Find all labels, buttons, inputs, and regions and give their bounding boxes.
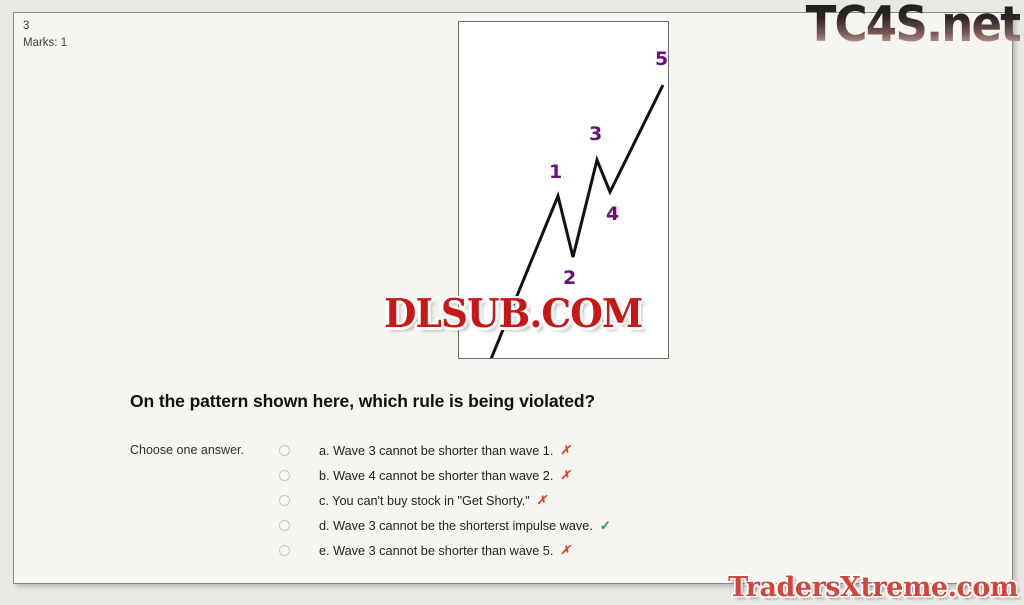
page-title: On the pattern shown here, which rule is… xyxy=(130,391,595,412)
radio-button-a[interactable] xyxy=(279,445,290,456)
answer-options-list: a. Wave 3 cannot be shorter than wave 1.… xyxy=(279,438,799,563)
incorrect-icon: ✗ xyxy=(560,468,570,483)
wave-label-4: 4 xyxy=(606,203,619,225)
answer-label-b: b. Wave 4 cannot be shorter than wave 2. xyxy=(319,469,553,483)
answer-option-d[interactable]: d. Wave 3 cannot be the shorterst impuls… xyxy=(279,513,799,538)
answer-label-d: d. Wave 3 cannot be the shorterst impuls… xyxy=(319,519,593,533)
correct-icon: ✓ xyxy=(600,518,611,534)
wave-label-1: 1 xyxy=(549,161,562,183)
answer-label-a: a. Wave 3 cannot be shorter than wave 1. xyxy=(319,444,553,458)
watermark-tradersxtreme: TradersXtreme.com xyxy=(728,572,1018,603)
wave-label-3: 3 xyxy=(589,123,602,145)
wave-label-2: 2 xyxy=(563,267,576,289)
answer-label-e: e. Wave 3 cannot be shorter than wave 5. xyxy=(319,544,553,558)
question-meta: 3 Marks: 1 xyxy=(23,18,67,52)
watermark-tc4s: TC4S.net xyxy=(806,0,1020,53)
choose-one-answer-label: Choose one answer. xyxy=(130,443,244,457)
incorrect-icon: ✗ xyxy=(560,543,570,558)
answer-option-a[interactable]: a. Wave 3 cannot be shorter than wave 1.… xyxy=(279,438,799,463)
question-marks: Marks: 1 xyxy=(23,35,67,52)
screenshot-root: 3 Marks: 1 12345 On the pattern shown he… xyxy=(0,0,1024,605)
quiz-question-panel: 3 Marks: 1 12345 On the pattern shown he… xyxy=(13,12,1013,584)
radio-button-b[interactable] xyxy=(279,470,290,481)
answer-option-e[interactable]: e. Wave 3 cannot be shorter than wave 5.… xyxy=(279,538,799,563)
wave-label-5: 5 xyxy=(655,48,668,70)
watermark-dlsub: DLSUB.COM xyxy=(384,291,642,337)
radio-button-c[interactable] xyxy=(279,495,290,506)
radio-button-e[interactable] xyxy=(279,545,290,556)
incorrect-icon: ✗ xyxy=(560,443,570,458)
wave-label-group: 12345 xyxy=(549,48,668,289)
answer-option-c[interactable]: c. You can't buy stock in "Get Shorty." … xyxy=(279,488,799,513)
answer-option-b[interactable]: b. Wave 4 cannot be shorter than wave 2.… xyxy=(279,463,799,488)
incorrect-icon: ✗ xyxy=(537,493,547,508)
radio-button-d[interactable] xyxy=(279,520,290,531)
question-number: 3 xyxy=(23,18,67,35)
answer-label-c: c. You can't buy stock in "Get Shorty." xyxy=(319,494,530,508)
